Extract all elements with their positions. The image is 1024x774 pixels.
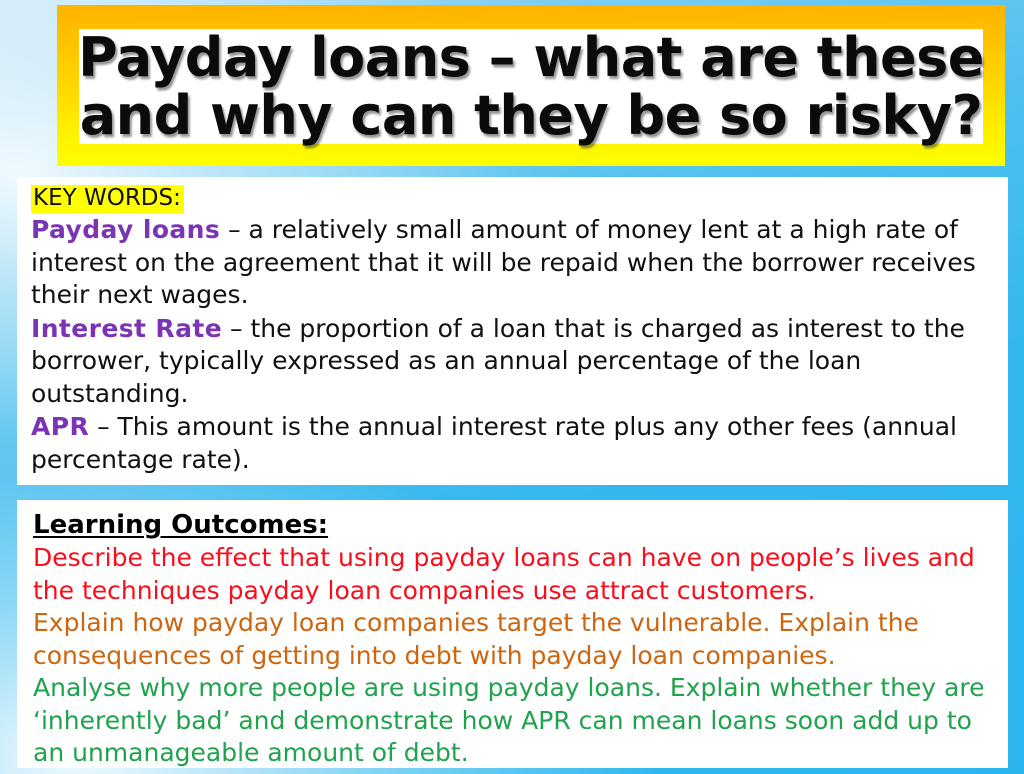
key-term-payday-loans: Payday loans — [31, 215, 220, 244]
learning-outcome-analyse: Analyse why more people are using payday… — [33, 672, 994, 770]
key-definition-apr: – This amount is the annual interest rat… — [31, 412, 957, 474]
learning-outcome-explain: Explain how payday loan companies target… — [33, 607, 994, 672]
key-words-panel: KEY WORDS: Payday loans – a relatively s… — [17, 177, 1008, 485]
learning-outcome-describe: Describe the effect that using payday lo… — [33, 542, 994, 607]
key-word-entry-interest-rate: Interest Rate – the proportion of a loan… — [31, 313, 994, 411]
key-words-heading-row: KEY WORDS: — [31, 185, 994, 213]
key-term-apr: APR — [31, 412, 89, 441]
slide-title-line-1: Payday loans – what are these — [78, 29, 984, 87]
title-inner-white-box: Payday loans – what are these and why ca… — [79, 29, 983, 144]
learning-outcomes-panel: Learning Outcomes: Describe the effect t… — [17, 500, 1008, 768]
key-words-heading: KEY WORDS: — [31, 185, 184, 213]
key-word-entry-apr: APR – This amount is the annual interest… — [31, 411, 994, 476]
title-card: Payday loans – what are these and why ca… — [57, 5, 1005, 166]
learning-outcomes-heading: Learning Outcomes: — [33, 510, 328, 540]
slide-title-line-2: and why can they be so risky? — [80, 87, 983, 145]
learning-outcomes-heading-row: Learning Outcomes: — [33, 510, 994, 542]
key-word-entry-payday-loans: Payday loans – a relatively small amount… — [31, 214, 994, 312]
slide-canvas: Payday loans – what are these and why ca… — [0, 0, 1024, 774]
key-term-interest-rate: Interest Rate — [31, 314, 222, 343]
